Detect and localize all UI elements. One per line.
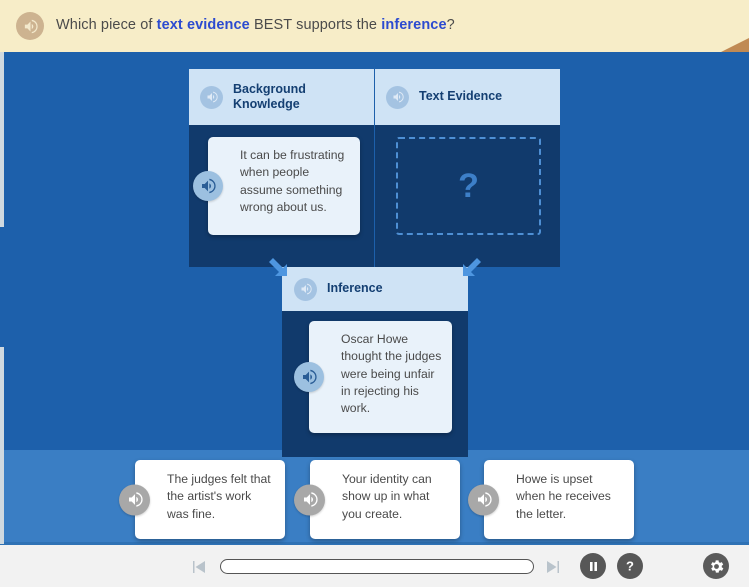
column-background-knowledge: Background Knowledge It can be frustrati… — [189, 69, 374, 267]
activity-stage: Background Knowledge It can be frustrati… — [0, 52, 749, 544]
answer-choice-2[interactable]: Your identity can show up in what you cr… — [310, 460, 460, 539]
column-header-text-evidence: Text Evidence — [375, 69, 560, 125]
answer-choice-3[interactable]: Howe is upset when he receives the lette… — [484, 460, 634, 539]
card-text: Oscar Howe thought the judges were being… — [341, 332, 441, 415]
question-link-text-evidence[interactable]: text evidence — [157, 17, 250, 33]
question-mark-placeholder: ? — [458, 169, 479, 203]
inference-section: Inference Oscar Howe thought the judges … — [282, 267, 468, 457]
speaker-icon[interactable] — [386, 86, 409, 109]
background-knowledge-card[interactable]: It can be frustrating when people assume… — [208, 137, 360, 235]
left-edge-rail-gap — [0, 227, 4, 347]
choice-text: Your identity can show up in what you cr… — [342, 472, 432, 521]
progress-scrubber[interactable] — [220, 559, 534, 574]
column-body-text-evidence: ? — [375, 125, 560, 267]
speaker-icon[interactable] — [294, 484, 325, 515]
question-suffix: ? — [447, 17, 455, 33]
question-prefix: Which piece of — [56, 17, 157, 33]
text-evidence-dropzone[interactable]: ? — [396, 137, 541, 235]
inference-label: Inference — [327, 281, 383, 296]
speaker-icon[interactable] — [16, 12, 44, 40]
speaker-icon[interactable] — [193, 171, 223, 201]
question-middle: BEST supports the — [250, 17, 381, 33]
speaker-icon[interactable] — [200, 86, 223, 109]
card-text: It can be frustrating when people assume… — [240, 148, 344, 214]
inference-diagram: Background Knowledge It can be frustrati… — [189, 69, 560, 457]
diagram-top-row: Background Knowledge It can be frustrati… — [189, 69, 560, 267]
column-label: Text Evidence — [419, 89, 502, 104]
speaker-icon[interactable] — [119, 484, 150, 515]
column-label: Background Knowledge — [233, 82, 374, 113]
answer-choices: The judges felt that the artist's work w… — [0, 460, 749, 544]
speaker-icon[interactable] — [468, 484, 499, 515]
question-text: Which piece of text evidence BEST suppor… — [56, 17, 455, 34]
banner-corner-fold-icon — [721, 38, 749, 52]
player-toolbar: ? — [0, 544, 749, 587]
column-text-evidence: Text Evidence ? — [375, 69, 560, 267]
speaker-icon[interactable] — [294, 362, 324, 392]
speaker-icon[interactable] — [294, 278, 317, 301]
answer-choice-1[interactable]: The judges felt that the artist's work w… — [135, 460, 285, 539]
question-banner-content: Which piece of text evidence BEST suppor… — [0, 0, 720, 52]
inference-body: Oscar Howe thought the judges were being… — [282, 311, 468, 457]
settings-button[interactable] — [703, 553, 729, 579]
banner-right-edge — [720, 0, 749, 38]
column-body-background-knowledge: It can be frustrating when people assume… — [189, 125, 374, 267]
arrow-evidence-to-inference-icon — [455, 255, 481, 281]
inference-header: Inference — [282, 267, 468, 311]
help-button[interactable]: ? — [617, 553, 643, 579]
choice-text: Howe is upset when he receives the lette… — [516, 472, 611, 521]
activity-screen: Which piece of text evidence BEST suppor… — [0, 0, 749, 587]
pause-button[interactable] — [580, 553, 606, 579]
svg-text:?: ? — [626, 558, 634, 573]
question-link-inference[interactable]: inference — [381, 17, 446, 33]
skip-previous-icon[interactable] — [190, 558, 208, 576]
inference-card[interactable]: Oscar Howe thought the judges were being… — [309, 321, 452, 433]
arrow-background-to-inference-icon — [269, 255, 295, 281]
column-header-background-knowledge: Background Knowledge — [189, 69, 374, 125]
choice-text: The judges felt that the artist's work w… — [167, 472, 271, 521]
question-banner: Which piece of text evidence BEST suppor… — [0, 0, 749, 52]
skip-next-icon[interactable] — [544, 558, 562, 576]
